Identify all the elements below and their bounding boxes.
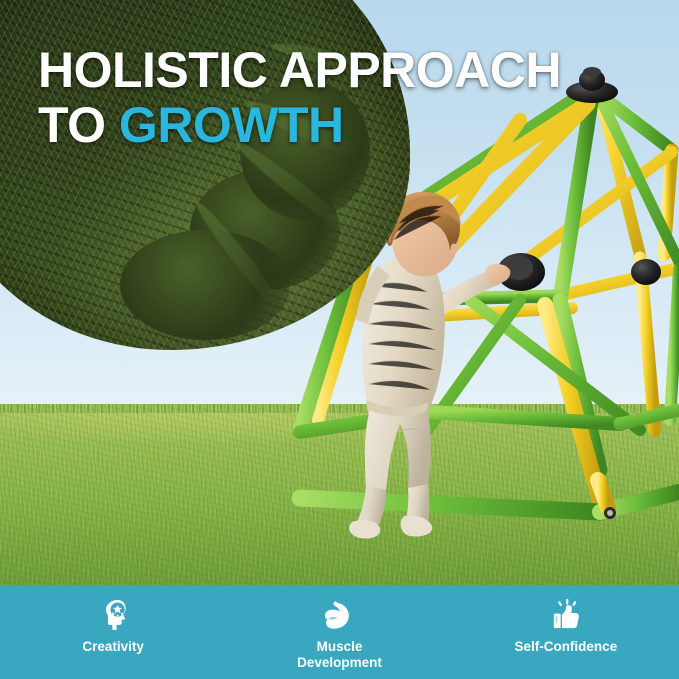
feature-item-creativity[interactable]: Creativity <box>0 585 226 655</box>
headline-line-2: TO GROWTH <box>38 102 598 148</box>
feature-bar: Creativity Muscle Development <box>0 585 679 679</box>
headline-line-1: HOLISTIC APPROACH <box>38 47 598 93</box>
headline: HOLISTIC APPROACH TO GROWTH <box>38 47 598 148</box>
feature-label-self-confidence: Self-Confidence <box>514 639 617 655</box>
product-lifestyle-image: HOLISTIC APPROACH TO GROWTH Creativity <box>0 0 679 679</box>
flexed-bicep-icon <box>317 593 361 637</box>
feature-item-muscle-development[interactable]: Muscle Development <box>226 585 452 671</box>
headline-line-2-prefix: TO <box>38 97 119 153</box>
feature-item-self-confidence[interactable]: Self-Confidence <box>453 585 679 655</box>
thumbs-up-icon <box>544 593 588 637</box>
feature-label-creativity: Creativity <box>82 639 144 655</box>
feature-label-muscle-development: Muscle Development <box>297 639 382 671</box>
brain-head-icon <box>91 593 135 637</box>
headline-accent-word: GROWTH <box>119 97 344 153</box>
